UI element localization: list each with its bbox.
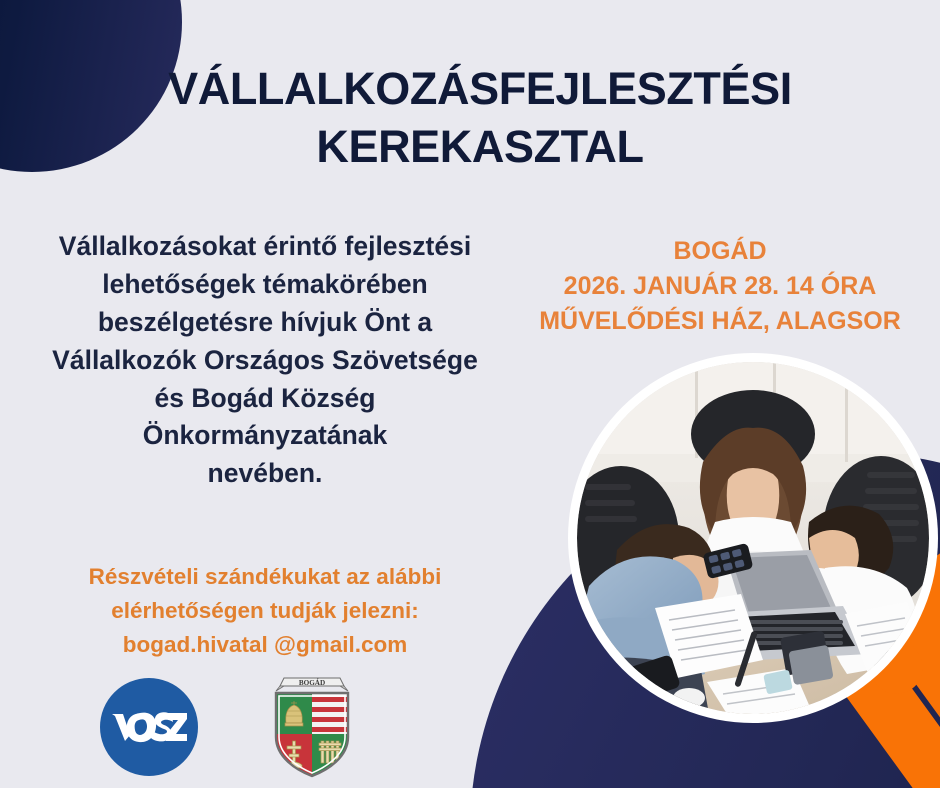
title-line-1: VÁLLALKOZÁSFEJLESZTÉSI	[150, 60, 810, 118]
body-line: Önkormányzatának	[10, 417, 520, 455]
logo-row: BOGÁD	[100, 672, 420, 782]
body-line: és Bogád Község	[10, 380, 520, 418]
body-line: nevében.	[10, 455, 520, 493]
crest-banner-text: BOGÁD	[299, 677, 325, 687]
vosz-logo	[100, 678, 198, 776]
photo-circle-frame	[577, 362, 929, 714]
meeting-photo	[577, 362, 929, 714]
event-venue: MŰVELŐDÉSI HÁZ, ALAGSOR	[505, 304, 935, 339]
bogad-coat-of-arms: BOGÁD	[266, 675, 358, 779]
event-details: BOGÁD 2026. JANUÁR 28. 14 ÓRA MŰVELŐDÉSI…	[505, 234, 935, 339]
contact-line: Részvételi szándékukat az alábbi	[30, 560, 500, 594]
page-title: VÁLLALKOZÁSFEJLESZTÉSI KEREKASZTAL	[150, 60, 810, 175]
title-line-2: KEREKASZTAL	[150, 118, 810, 176]
event-datetime: 2026. JANUÁR 28. 14 ÓRA	[505, 269, 935, 304]
invitation-body-text: Vállalkozásokat érintő fejlesztési lehet…	[10, 228, 520, 493]
body-line: lehetőségek témakörében	[10, 266, 520, 304]
contact-block: Részvételi szándékukat az alábbi elérhet…	[30, 560, 500, 663]
contact-email[interactable]: bogad.hivatal @gmail.com	[30, 628, 500, 662]
body-line: beszélgetésre hívjuk Önt a	[10, 304, 520, 342]
crest-banner-ribbon: BOGÁD	[276, 677, 348, 691]
poster-canvas: VÁLLALKOZÁSFEJLESZTÉSI KEREKASZTAL Válla…	[0, 0, 940, 788]
event-place: BOGÁD	[505, 234, 935, 269]
body-line: Vállalkozásokat érintő fejlesztési	[10, 228, 520, 266]
contact-line: elérhetőségen tudják jelezni:	[30, 594, 500, 628]
body-line: Vállalkozók Országos Szövetsége	[10, 342, 520, 380]
